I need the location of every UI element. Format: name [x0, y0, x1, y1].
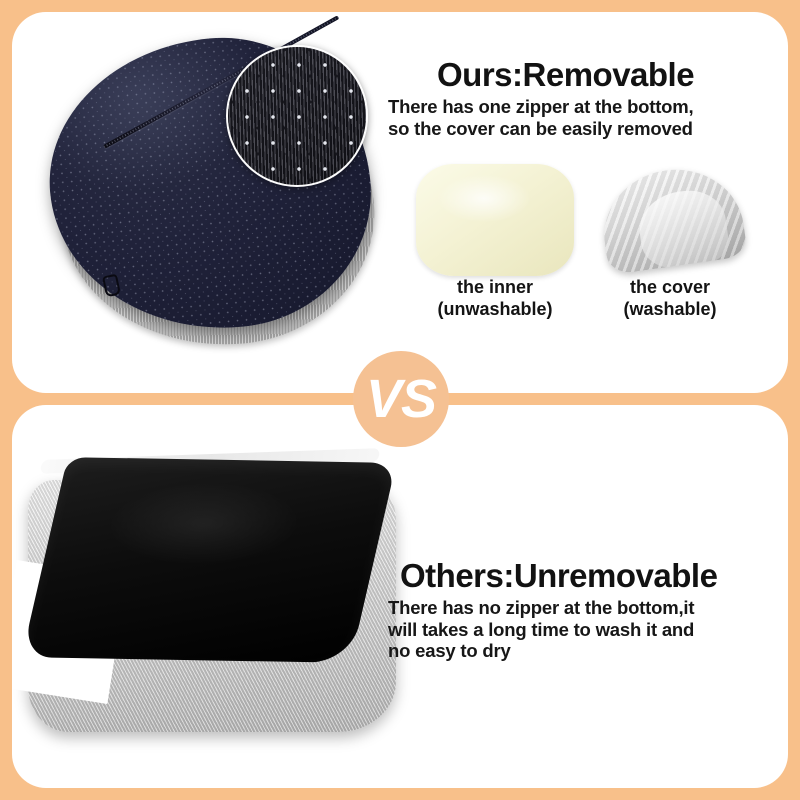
caption-removable-cover: the cover (washable) — [580, 276, 760, 320]
others-heading: Others:Unremovable — [400, 557, 717, 595]
thumbnail-inner-foam — [416, 164, 574, 276]
others-body-text: There has no zipper at the bottom,it wil… — [388, 597, 778, 662]
vs-label: VS — [366, 372, 436, 426]
ours-body-text: There has one zipper at the bottom, so t… — [388, 96, 768, 139]
thumbnail-removable-cover — [602, 162, 742, 278]
comparison-infographic: Ours:Removable There has one zipper at t… — [0, 0, 800, 800]
navy-seat-cushion-photo — [22, 17, 392, 377]
vs-badge: VS — [353, 351, 449, 447]
ours-heading: Ours:Removable — [437, 56, 694, 94]
panel-ours-removable: Ours:Removable There has one zipper at t… — [12, 12, 788, 393]
caption-inner-foam: the inner (unwashable) — [405, 276, 585, 320]
panel-others-unremovable: Others:Unremovable There has no zipper a… — [12, 405, 788, 788]
anti-slip-texture-inset — [226, 45, 368, 187]
black-gray-pillow-photo — [22, 440, 417, 760]
pillow-black-top-face — [22, 457, 397, 663]
cover-shell-shape — [596, 161, 748, 276]
